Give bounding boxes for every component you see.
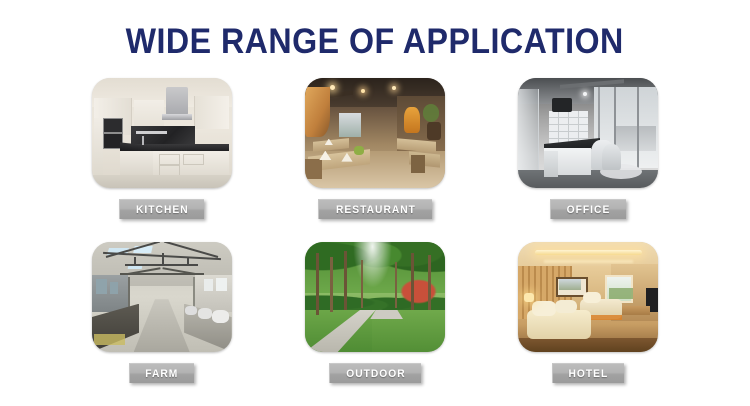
application-card-kitchen[interactable]: KITCHEN: [55, 78, 268, 242]
label-plaque-outdoor: OUTDOOR: [329, 363, 422, 383]
application-label: RESTAURANT: [336, 204, 416, 216]
hotel-image[interactable]: [518, 242, 658, 352]
application-grid: KITCHEN RESTAURANT: [55, 78, 695, 406]
wide-range-of-application-banner: WIDE RANGE OF APPLICATION KITCHEN: [0, 0, 750, 400]
outdoor-scene: [305, 242, 445, 352]
office-image[interactable]: [518, 78, 658, 188]
hotel-scene: [518, 242, 658, 352]
application-label: OFFICE: [567, 204, 611, 216]
restaurant-image[interactable]: [305, 78, 445, 188]
restaurant-scene: [305, 78, 445, 188]
label-plaque-kitchen: KITCHEN: [119, 199, 205, 219]
farm-scene: [92, 242, 232, 352]
farm-image[interactable]: [92, 242, 232, 352]
application-card-hotel[interactable]: HOTEL: [482, 242, 695, 406]
label-plaque-farm: FARM: [129, 363, 194, 383]
kitchen-image[interactable]: [92, 78, 232, 188]
application-card-farm[interactable]: FARM: [55, 242, 268, 406]
application-label: FARM: [146, 368, 179, 380]
page-title: WIDE RANGE OF APPLICATION: [126, 22, 624, 62]
label-plaque-hotel: HOTEL: [552, 363, 624, 383]
office-scene: [518, 78, 658, 188]
application-card-outdoor[interactable]: OUTDOOR: [268, 242, 481, 406]
label-plaque-office: OFFICE: [550, 199, 626, 219]
outdoor-image[interactable]: [305, 242, 445, 352]
application-label: HOTEL: [569, 368, 609, 380]
application-card-office[interactable]: OFFICE: [482, 78, 695, 242]
application-label: KITCHEN: [136, 204, 189, 216]
application-label: OUTDOOR: [346, 368, 405, 380]
kitchen-scene: [92, 78, 232, 188]
label-plaque-restaurant: RESTAURANT: [318, 199, 433, 219]
application-card-restaurant[interactable]: RESTAURANT: [268, 78, 481, 242]
